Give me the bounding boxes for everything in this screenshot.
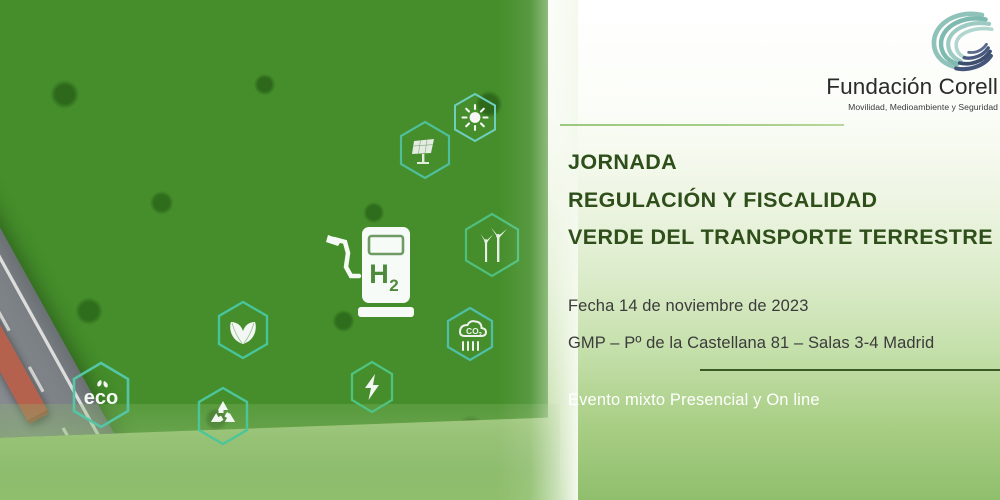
wind-turbine-icon [462,212,522,278]
hydrogen-pump-icon: H 2 [322,215,430,325]
leaf-icon [215,300,271,362]
text-panel: Fundación Corell Movilidad, Medioambient… [540,0,1000,500]
event-details: Fecha 14 de noviembre de 2023 GMP – Pº d… [568,298,998,371]
event-venue: GMP – Pº de la Castellana 81 – Salas 3-4… [568,335,998,352]
svg-text:eco: eco [84,387,118,409]
svg-text:2: 2 [389,276,398,295]
logo-name: Fundación Corell [818,76,998,99]
solar-panel-icon [398,120,452,180]
svg-text:H: H [369,259,389,289]
title-line-1: JORNADA [568,152,988,174]
brand-logo[interactable]: Fundación Corell Movilidad, Medioambient… [818,4,998,112]
top-divider [560,124,844,126]
event-mode: Evento mixto Presencial y On line [568,391,820,410]
eco-badge-icon: eco [68,360,134,432]
lightning-bolt-icon [348,360,396,414]
svg-text:CO: CO [466,326,479,336]
logo-tagline: Movilidad, Medioambiente y Seguridad [818,102,998,112]
recycle-icon [196,386,250,446]
mid-divider [700,369,1000,371]
event-title: JORNADA REGULACIÓN Y FISCALIDAD VERDE DE… [568,152,988,265]
hero-photo: CO 2 [0,0,560,500]
title-line-3: VERDE DEL TRANSPORTE TERRESTRE [568,227,988,249]
title-line-2: REGULACIÓN Y FISCALIDAD [568,190,988,212]
corell-c-arcs-logo-icon [918,4,998,74]
event-slide: CO 2 [0,0,1000,500]
co2-cloud-icon: CO 2 [444,306,496,364]
sun-icon [452,92,498,144]
event-date: Fecha 14 de noviembre de 2023 [568,298,998,315]
